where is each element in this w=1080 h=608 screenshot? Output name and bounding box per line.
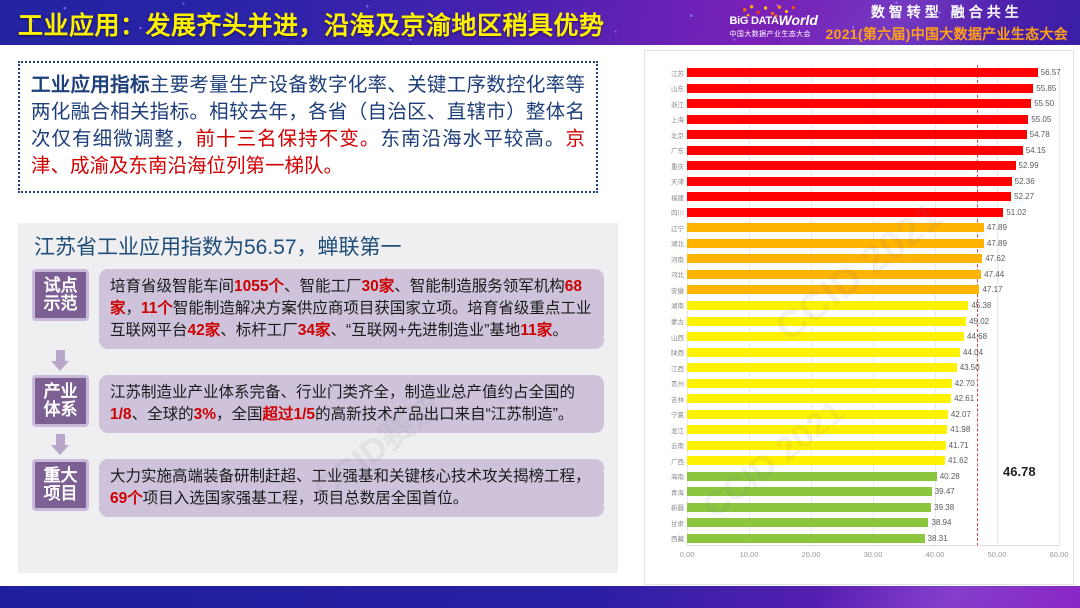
chart-category-label: 陕西: [671, 347, 684, 357]
chart-value-label: 39.47: [935, 487, 955, 496]
badge-industry-line2: 体系: [44, 401, 78, 419]
chart-value-label: 55.85: [1036, 84, 1056, 93]
chart-category-label: 河南: [671, 254, 684, 264]
chart-category-label: 广东: [671, 145, 684, 155]
chart-x-tick: 30.00: [864, 550, 883, 559]
text-segment: 、全球的: [132, 406, 194, 423]
left-content-panel: 工业应用指标主要考量生产设备数字化率、关键工序数控化率等两化融合相关指标。相较去…: [0, 45, 640, 586]
flow-arrow-1: [32, 349, 89, 375]
chart-bar-row: 蒙古45.02: [687, 313, 1059, 329]
chart-bar-row: 吉林42.61: [687, 391, 1059, 407]
chart-category-label: 江苏: [671, 68, 684, 78]
chart-bar-row: 北京54.78: [687, 127, 1059, 143]
chart-value-label: 42.61: [954, 394, 974, 403]
chart-bar: [687, 270, 981, 279]
chart-bar-row: 山东55.85: [687, 81, 1059, 97]
chart-bar: [687, 441, 946, 450]
chart-value-label: 38.31: [928, 534, 948, 543]
slide-footer: [0, 586, 1080, 608]
chart-category-label: 北京: [671, 130, 684, 140]
chart-bar-row: 辽宁47.89: [687, 220, 1059, 236]
flow-item-industry: 产业 体系 江苏制造业产业体系完备、行业门类齐全，制造业总产值约占全国的1/8、…: [32, 375, 604, 433]
badge-projects-line1: 重大: [44, 467, 78, 485]
chart-bar-row: 上海55.05: [687, 112, 1059, 128]
chart-bar-row: 湖南45.38: [687, 298, 1059, 314]
summary-paragraph: 工业应用指标主要考量生产设备数字化率、关键工序数控化率等两化融合相关指标。相较去…: [31, 72, 585, 180]
badge-pilot-line2: 示范: [44, 295, 78, 313]
event-tagline: 数智转型 融合共生: [871, 2, 1023, 22]
chart-category-label: 天津: [671, 176, 684, 186]
chart-value-label: 54.78: [1030, 130, 1050, 139]
chart-value-label: 47.89: [987, 223, 1007, 232]
footer-sheen-decoration: [820, 586, 1080, 608]
text-segment: ，: [126, 300, 142, 317]
chart-bar-row: 江西43.50: [687, 360, 1059, 376]
chart-category-label: 甘肃: [671, 518, 684, 528]
chart-bar: [687, 363, 957, 372]
industrial-application-index-chart: 46.78 江苏56.57山东55.85浙江55.50上海55.05北京54.7…: [644, 50, 1074, 585]
chart-bar: [687, 456, 945, 465]
chart-bar: [687, 317, 966, 326]
chart-x-tick: 10.00: [740, 550, 759, 559]
flow-text-industry: 江苏制造业产业体系完备、行业门类齐全，制造业总产值约占全国的1/8、全球的3%，…: [99, 375, 604, 433]
chart-bar: [687, 192, 1011, 201]
chart-bar-row: 福建52.27: [687, 189, 1059, 205]
chart-bar: [687, 285, 979, 294]
chart-value-label: 47.62: [985, 254, 1005, 263]
chart-bar: [687, 146, 1023, 155]
flow-text-pilot: 培育省级智能车间1055个、智能工厂30家、智能制造服务领军机构68家，11个智…: [99, 269, 604, 349]
summary-callout-box: 工业应用指标主要考量生产设备数字化率、关键工序数控化率等两化融合相关指标。相较去…: [18, 61, 598, 193]
chart-bar-row: 广东54.15: [687, 143, 1059, 159]
logo-bigdata-text: BiG DATA: [730, 15, 779, 27]
chart-bar-row: 陕西44.04: [687, 344, 1059, 360]
slide-root: 工业应用：发展齐头并进，沿海及京渝地区稍具优势 BiG DATA World 中…: [0, 0, 1080, 608]
text-segment: 11家: [520, 322, 552, 339]
chart-bar: [687, 223, 984, 232]
badge-projects-line2: 项目: [44, 485, 78, 503]
text-segment: 、智能制造服务领军机构: [394, 278, 565, 295]
chart-bar-row: 重庆52.99: [687, 158, 1059, 174]
chart-bar: [687, 301, 968, 310]
chart-bar-row: 新疆39.38: [687, 499, 1059, 515]
chart-category-label: 海南: [671, 471, 684, 481]
event-title-block: 数智转型 融合共生 2021(第六届)中国大数据产业生态大会: [826, 2, 1068, 44]
chart-category-label: 江西: [671, 363, 684, 373]
chart-bar: [687, 472, 937, 481]
chart-value-label: 47.17: [982, 285, 1002, 294]
chart-category-label: 广西: [671, 456, 684, 466]
flow-arrow-2: [32, 433, 89, 459]
chart-category-label: 龙江: [671, 425, 684, 435]
brand-block: BiG DATA World 中国大数据产业生态大会 数智转型 融合共生 202…: [730, 3, 1068, 43]
chart-value-label: 55.50: [1034, 99, 1054, 108]
chart-category-label: 云南: [671, 440, 684, 450]
chart-gridline: [1059, 65, 1060, 546]
chart-value-label: 47.44: [984, 270, 1004, 279]
chart-bar: [687, 410, 948, 419]
chart-category-label: 湖北: [671, 238, 684, 248]
text-segment: 、“互联网+先进制造业”基地: [331, 322, 521, 339]
chart-category-label: 湖南: [671, 300, 684, 310]
jiangsu-section-title: 江苏省工业应用指数为56.57，蝉联第一: [34, 231, 402, 261]
text-segment: 11个: [141, 300, 173, 317]
bigdata-world-logo: BiG DATA World 中国大数据产业生态大会: [730, 4, 816, 42]
logo-world-text: World: [779, 12, 818, 28]
chart-bar-row: 海南40.28: [687, 468, 1059, 484]
chart-bar-row: 贵州42.70: [687, 375, 1059, 391]
chart-bar: [687, 130, 1027, 139]
chart-value-label: 47.89: [987, 239, 1007, 248]
chart-bar-row: 青海39.47: [687, 484, 1059, 500]
chart-bar-row: 天津52.36: [687, 174, 1059, 190]
chart-x-tick: 50.00: [988, 550, 1007, 559]
event-name: 2021(第六届)中国大数据产业生态大会: [826, 24, 1068, 44]
text-segment: 超过1/5: [263, 406, 316, 423]
chart-bar: [687, 84, 1033, 93]
chart-value-label: 56.57: [1041, 68, 1061, 77]
summary-red-1: 前十三名保持不变。: [195, 128, 380, 150]
chart-bar-row: 四川51.02: [687, 205, 1059, 221]
chart-bar: [687, 425, 947, 434]
chart-value-label: 44.68: [967, 332, 987, 341]
text-segment: 、智能工厂: [284, 278, 362, 295]
chart-category-label: 山西: [671, 332, 684, 342]
chart-bar: [687, 208, 1003, 217]
text-segment: ，全国: [216, 406, 263, 423]
chart-category-label: 宁夏: [671, 409, 684, 419]
chart-category-label: 西藏: [671, 533, 684, 543]
chart-bar: [687, 379, 952, 388]
chart-category-label: 新疆: [671, 502, 684, 512]
flow-item-projects: 重大 项目 大力实施高端装备研制赶超、工业强基和关键核心技术攻关揭榜工程，69个…: [32, 459, 604, 517]
chart-bar: [687, 254, 982, 263]
chart-bar: [687, 239, 984, 248]
chart-bar-row: 河南47.62: [687, 251, 1059, 267]
chart-bar: [687, 534, 925, 543]
chart-bar: [687, 115, 1028, 124]
chart-x-tick: 60.00: [1050, 550, 1069, 559]
text-segment: 培育省级智能车间: [110, 278, 234, 295]
chart-value-label: 45.38: [971, 301, 991, 310]
chart-value-label: 42.07: [951, 410, 971, 419]
chart-x-axis-line: [687, 545, 1059, 546]
chart-value-label: 40.28: [940, 472, 960, 481]
text-segment: 34家: [298, 322, 331, 339]
text-segment: 的高新技术产品出口来自“江苏制造”。: [315, 406, 573, 423]
chart-bar-row: 广西41.62: [687, 453, 1059, 469]
text-segment: 42家: [188, 322, 221, 339]
text-segment: 江苏制造业产业体系完备、行业门类齐全，制造业总产值约占全国的: [110, 384, 575, 401]
chart-value-label: 54.15: [1026, 146, 1046, 155]
text-segment: 大力实施高端装备研制赶超、工业强基和关键核心技术攻关揭榜工程，: [110, 468, 591, 485]
chart-bar-rows: 江苏56.57山东55.85浙江55.50上海55.05北京54.78广东54.…: [687, 65, 1059, 546]
flow-item-pilot: 试点 示范 培育省级智能车间1055个、智能工厂30家、智能制造服务领军机构68…: [32, 269, 604, 349]
chart-value-label: 42.70: [955, 379, 975, 388]
chart-bar: [687, 68, 1038, 77]
chart-bar-row: 西藏38.31: [687, 530, 1059, 546]
chart-category-label: 安徽: [671, 285, 684, 295]
chart-x-tick: 20.00: [802, 550, 821, 559]
chart-x-tick: 0.00: [680, 550, 695, 559]
chart-value-label: 51.02: [1006, 208, 1026, 217]
flow-text-projects: 大力实施高端装备研制赶超、工业强基和关键核心技术攻关揭榜工程，69个项目入选国家…: [99, 459, 604, 517]
chart-x-tick: 40.00: [926, 550, 945, 559]
chart-value-label: 38.94: [931, 518, 951, 527]
chart-category-label: 青海: [671, 487, 684, 497]
chart-category-label: 上海: [671, 114, 684, 124]
chart-value-label: 41.62: [948, 456, 968, 465]
chart-bar-row: 云南41.71: [687, 437, 1059, 453]
chart-value-label: 41.71: [949, 441, 969, 450]
chart-category-label: 重庆: [671, 161, 684, 171]
chart-bar-row: 甘肃38.94: [687, 515, 1059, 531]
text-segment: 、标杆工厂: [220, 322, 298, 339]
chart-bar-row: 山西44.68: [687, 329, 1059, 345]
chart-value-label: 43.50: [960, 363, 980, 372]
chart-value-label: 39.38: [934, 503, 954, 512]
chart-bar-row: 龙江41.98: [687, 422, 1059, 438]
badge-industry: 产业 体系: [32, 375, 89, 427]
text-segment: 30家: [362, 278, 395, 295]
chart-bar-row: 湖北47.89: [687, 236, 1059, 252]
chart-value-label: 52.99: [1019, 161, 1039, 170]
chart-x-tick-labels: 0.0010.0020.0030.0040.0050.0060.00: [687, 550, 1059, 564]
chart-bar: [687, 518, 928, 527]
chart-bar-row: 安徽47.17: [687, 282, 1059, 298]
page-title: 工业应用：发展齐头并进，沿海及京渝地区稍具优势: [18, 6, 605, 42]
text-segment: 69个: [110, 490, 143, 507]
chart-category-label: 福建: [671, 192, 684, 202]
chart-bar: [687, 487, 932, 496]
chart-category-label: 辽宁: [671, 223, 684, 233]
badge-pilot-line1: 试点: [44, 277, 78, 295]
badge-pilot: 试点 示范: [32, 269, 89, 321]
summary-lead-bold: 工业应用指标: [31, 74, 150, 96]
chart-bar: [687, 503, 931, 512]
text-segment: 。: [552, 322, 568, 339]
summary-text-2: 东南沿海水平较高。: [380, 128, 565, 150]
chart-value-label: 55.05: [1031, 115, 1051, 124]
chart-bar: [687, 348, 960, 357]
chart-category-label: 浙江: [671, 99, 684, 109]
chart-bar-row: 宁夏42.07: [687, 406, 1059, 422]
chart-value-label: 52.27: [1014, 192, 1034, 201]
chart-bar: [687, 99, 1031, 108]
jiangsu-section: 江苏省工业应用指数为56.57，蝉联第一 试点 示范 培育省级智能车间1055个…: [18, 223, 618, 573]
badge-projects: 重大 项目: [32, 459, 89, 511]
text-segment: 1/8: [110, 406, 132, 423]
chart-value-label: 52.36: [1015, 177, 1035, 186]
slide-header: 工业应用：发展齐头并进，沿海及京渝地区稍具优势 BiG DATA World 中…: [0, 0, 1080, 45]
chart-category-label: 河北: [671, 269, 684, 279]
chart-bar: [687, 161, 1016, 170]
chart-category-label: 四川: [671, 207, 684, 217]
chart-category-label: 吉林: [671, 394, 684, 404]
chart-category-label: 贵州: [671, 378, 684, 388]
text-segment: 项目入选国家强基工程，项目总数居全国首位。: [143, 490, 469, 507]
chart-bar: [687, 332, 964, 341]
chart-bar-row: 江苏56.57: [687, 65, 1059, 81]
chart-category-label: 山东: [671, 83, 684, 93]
chart-bar-row: 浙江55.50: [687, 96, 1059, 112]
text-segment: 3%: [194, 406, 216, 423]
chart-value-label: 41.98: [950, 425, 970, 434]
chart-value-label: 44.04: [963, 348, 983, 357]
text-segment: 1055个: [234, 278, 284, 295]
chart-value-label: 45.02: [969, 317, 989, 326]
logo-chinese-text: 中国大数据产业生态大会: [730, 29, 811, 39]
chart-bar: [687, 177, 1012, 186]
badge-industry-line1: 产业: [44, 383, 78, 401]
chart-category-label: 蒙古: [671, 316, 684, 326]
chart-bar-row: 河北47.44: [687, 267, 1059, 283]
chart-plot-area: 46.78 江苏56.57山东55.85浙江55.50上海55.05北京54.7…: [653, 59, 1065, 576]
flow-list: 试点 示范 培育省级智能车间1055个、智能工厂30家、智能制造服务领军机构68…: [32, 269, 604, 517]
chart-bar: [687, 394, 951, 403]
